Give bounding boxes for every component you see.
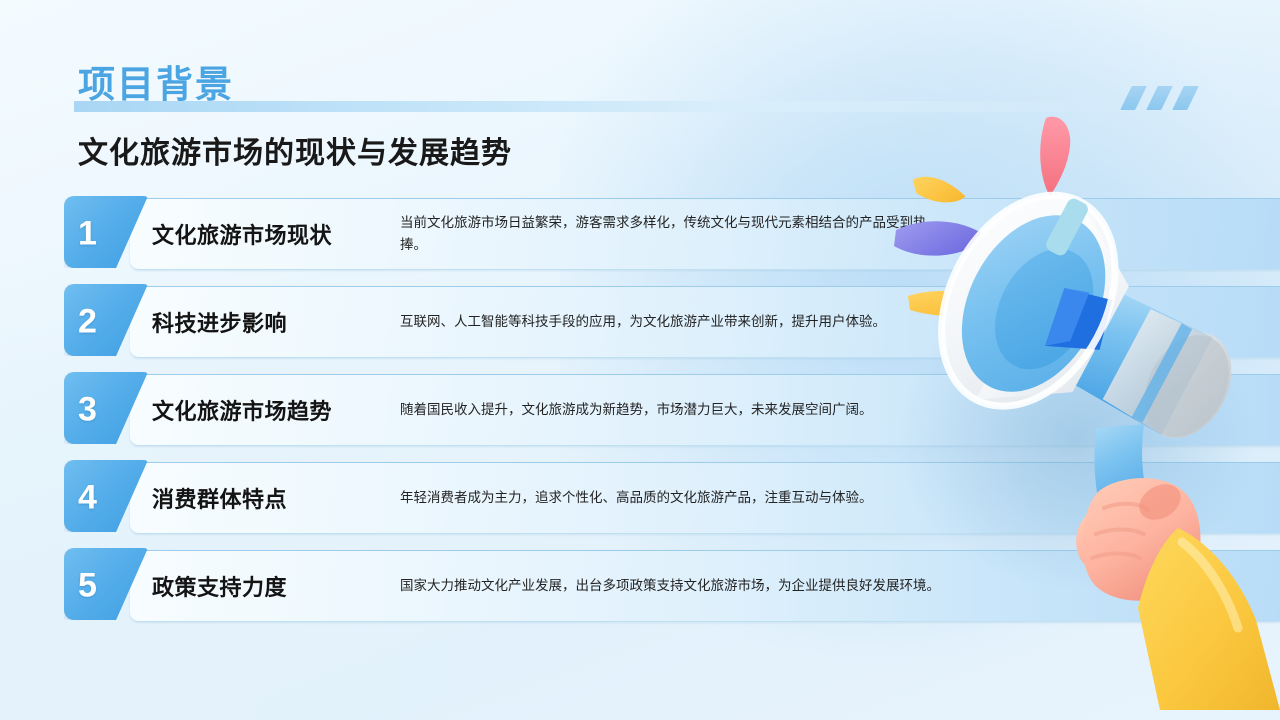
content-row[interactable]: 2 科技进步影响 互联网、人工智能等科技手段的应用，为文化旅游产业带来创新，提升… xyxy=(64,286,1280,358)
slide-subtitle: 文化旅游市场的现状与发展趋势 xyxy=(78,128,512,172)
stripe-1 xyxy=(1120,86,1147,110)
row-number: 3 xyxy=(78,392,97,426)
diagonal-stripes-decor xyxy=(1126,86,1218,110)
row-description: 互联网、人工智能等科技手段的应用，为文化旅游产业带来创新，提升用户体验。 xyxy=(400,311,942,333)
row-number: 4 xyxy=(78,480,97,514)
content-row[interactable]: 4 消费群体特点 年轻消费者成为主力，追求个性化、高品质的文化旅游产品，注重互动… xyxy=(64,462,1280,534)
row-heading: 文化旅游市场现状 xyxy=(152,218,332,250)
row-number: 2 xyxy=(78,304,97,338)
slide-canvas: 项目背景 文化旅游市场的现状与发展趋势 1 文化旅游市场现状 当前文化旅游市场日… xyxy=(0,0,1280,720)
accent-stroke-pink xyxy=(1040,117,1070,196)
row-description: 年轻消费者成为主力，追求个性化、高品质的文化旅游产品，注重互动与体验。 xyxy=(400,487,942,509)
content-row[interactable]: 3 文化旅游市场趋势 随着国民收入提升，文化旅游成为新趋势，市场潜力巨大，未来发… xyxy=(64,374,1280,446)
row-description: 随着国民收入提升，文化旅游成为新趋势，市场潜力巨大，未来发展空间广阔。 xyxy=(400,399,942,421)
row-heading: 消费群体特点 xyxy=(152,482,287,514)
row-heading: 科技进步影响 xyxy=(152,306,287,338)
page-title: 项目背景 xyxy=(78,54,234,108)
stripe-3 xyxy=(1172,86,1199,110)
row-heading: 政策支持力度 xyxy=(152,570,287,602)
content-row-list: 1 文化旅游市场现状 当前文化旅游市场日益繁荣，游客需求多样化，传统文化与现代元… xyxy=(64,198,1280,638)
row-description: 国家大力推动文化产业发展，出台多项政策支持文化旅游市场，为企业提供良好发展环境。 xyxy=(400,575,942,597)
row-number: 5 xyxy=(78,568,97,602)
row-heading: 文化旅游市场趋势 xyxy=(152,394,332,426)
row-number: 1 xyxy=(78,216,97,250)
content-row[interactable]: 1 文化旅游市场现状 当前文化旅游市场日益繁荣，游客需求多样化，传统文化与现代元… xyxy=(64,198,1280,270)
stripe-2 xyxy=(1146,86,1173,110)
title-underline-bar xyxy=(74,101,1204,112)
content-row[interactable]: 5 政策支持力度 国家大力推动文化产业发展，出台多项政策支持文化旅游市场，为企业… xyxy=(64,550,1280,622)
row-description: 当前文化旅游市场日益繁荣，游客需求多样化，传统文化与现代元素相结合的产品受到热捧… xyxy=(400,212,942,256)
